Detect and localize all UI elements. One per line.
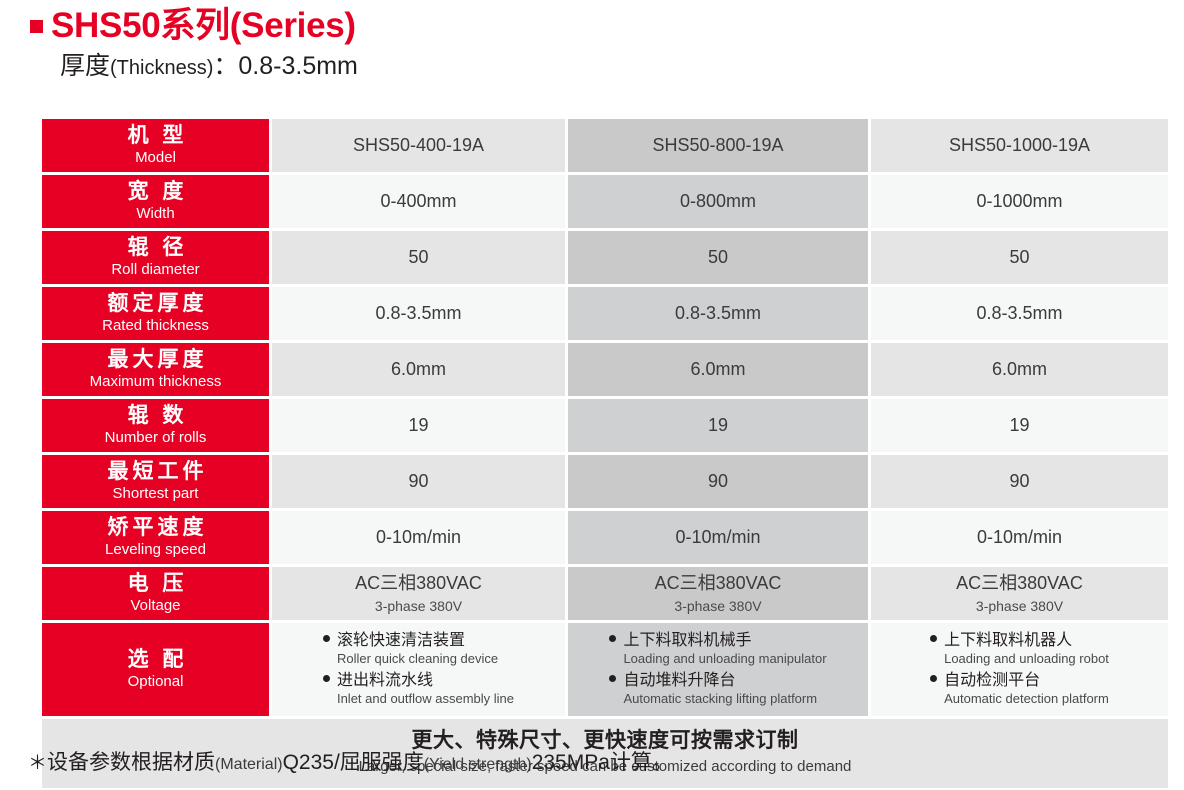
cell-value: AC三相380VAC: [355, 572, 482, 595]
cell-value: AC三相380VAC: [655, 572, 782, 595]
row-label-cn: 辊 径: [124, 236, 188, 261]
footnote-yield-value: 235MPa: [532, 751, 610, 774]
optional-item-en: Inlet and outflow assembly line: [323, 691, 514, 708]
row-label-en: Optional: [128, 673, 184, 691]
footnote-part7: 计算。: [610, 751, 673, 774]
subtitle-label-cn: 厚度: [60, 52, 110, 80]
bullet-icon: [609, 675, 616, 682]
cell-value: 19: [708, 414, 728, 437]
cell-model-col3: SHS50-1000-19A: [871, 119, 1168, 172]
cell-value: 0-10m/min: [376, 526, 461, 549]
page-title: SHS50系列(Series): [51, 8, 356, 45]
row-label-cn: 宽 度: [124, 180, 188, 205]
cell-maximum-thickness-col3: 6.0mm: [871, 343, 1168, 396]
row-label-en: Width: [136, 205, 174, 223]
row-label-cn: 电 压: [124, 572, 188, 597]
table-row: 矫平速度 Leveling speed 0-10m/min 0-10m/min …: [42, 511, 1168, 564]
cell-subvalue: 3-phase 380V: [976, 597, 1063, 615]
optional-item-en: Automatic detection platform: [930, 691, 1109, 708]
optional-item-en: Automatic stacking lifting platform: [609, 691, 826, 708]
row-label-maximum-thickness: 最大厚度 Maximum thickness: [42, 343, 269, 396]
row-label-cn: 最短工件: [104, 460, 208, 485]
cell-value: SHS50-1000-19A: [949, 134, 1090, 157]
cell-leveling-speed-col2: 0-10m/min: [568, 511, 868, 564]
cell-value: 0-800mm: [680, 190, 756, 213]
optional-item-en: Roller quick cleaning device: [323, 651, 514, 668]
optional-item: 自动堆料升降台 Automatic stacking lifting platf…: [609, 671, 826, 708]
optional-item-cn: 滚轮快速清洁装置: [323, 631, 514, 651]
footnote-part1: 设备参数根据材质: [47, 751, 215, 774]
cell-maximum-thickness-col1: 6.0mm: [272, 343, 565, 396]
table-row-optional: 选 配 Optional 滚轮快速清洁装置 Roller quick clean…: [42, 623, 1168, 716]
optional-item-cn-text: 上下料取料机械手: [623, 632, 751, 649]
row-label-number-of-rolls: 辊 数 Number of rolls: [42, 399, 269, 452]
optional-item-cn: 上下料取料机器人: [930, 631, 1109, 651]
subtitle-label-en: (Thickness): [110, 57, 213, 79]
cell-value: 0-10m/min: [675, 526, 760, 549]
row-label-en: Maximum thickness: [90, 373, 222, 391]
cell-value: SHS50-800-19A: [652, 134, 783, 157]
cell-rated-thickness-col3: 0.8-3.5mm: [871, 287, 1168, 340]
row-label-en: Shortest part: [113, 485, 199, 503]
row-label-en: Voltage: [130, 597, 180, 615]
row-label-en: Number of rolls: [105, 429, 207, 447]
cell-value: 90: [1009, 470, 1029, 493]
optional-item-cn-text: 进出料流水线: [337, 672, 433, 689]
table-row: 辊 径 Roll diameter 50 50 50: [42, 231, 1168, 284]
cell-value: 0.8-3.5mm: [976, 302, 1062, 325]
optional-item-cn: 自动堆料升降台: [609, 671, 826, 691]
cell-width-col3: 0-1000mm: [871, 175, 1168, 228]
row-label-cn: 机 型: [124, 124, 188, 149]
cell-value: 0-1000mm: [976, 190, 1062, 213]
page-subtitle: 厚度(Thickness)：0.8-3.5mm: [0, 45, 1184, 81]
optional-item-cn: 上下料取料机械手: [609, 631, 826, 651]
cell-value: 19: [408, 414, 428, 437]
optional-item-cn: 进出料流水线: [323, 671, 514, 691]
cell-value: 0.8-3.5mm: [675, 302, 761, 325]
cell-shortest-part-col3: 90: [871, 455, 1168, 508]
cell-value: 90: [408, 470, 428, 493]
row-label-en: Leveling speed: [105, 541, 206, 559]
table-row: 最短工件 Shortest part 90 90 90: [42, 455, 1168, 508]
cell-subvalue: 3-phase 380V: [375, 597, 462, 615]
cell-value: AC三相380VAC: [956, 572, 1083, 595]
optional-item-cn-text: 自动检测平台: [944, 672, 1040, 689]
cell-model-col1: SHS50-400-19A: [272, 119, 565, 172]
table-row: 最大厚度 Maximum thickness 6.0mm 6.0mm 6.0mm: [42, 343, 1168, 396]
bullet-icon: [323, 675, 330, 682]
cell-roll-diameter-col1: 50: [272, 231, 565, 284]
row-label-model: 机 型 Model: [42, 119, 269, 172]
footnote-material-en: (Material): [215, 756, 283, 773]
optional-item-cn: 自动检测平台: [930, 671, 1109, 691]
table-row: 电 压 Voltage AC三相380VAC 3-phase 380V AC三相…: [42, 567, 1168, 620]
cell-value: 0.8-3.5mm: [375, 302, 461, 325]
cell-value: SHS50-400-19A: [353, 134, 484, 157]
cell-value: 50: [408, 246, 428, 269]
cell-leveling-speed-col3: 0-10m/min: [871, 511, 1168, 564]
cell-value: 0-10m/min: [977, 526, 1062, 549]
table-row: 机 型 Model SHS50-400-19A SHS50-800-19A SH…: [42, 119, 1168, 172]
cell-roll-diameter-col2: 50: [568, 231, 868, 284]
cell-value: 50: [1009, 246, 1029, 269]
cell-value: 6.0mm: [992, 358, 1047, 381]
row-label-rated-thickness: 额定厚度 Rated thickness: [42, 287, 269, 340]
optional-item: 进出料流水线 Inlet and outflow assembly line: [323, 671, 514, 708]
subtitle-value: 0.8-3.5mm: [238, 52, 357, 80]
cell-number-of-rolls-col2: 19: [568, 399, 868, 452]
row-label-shortest-part: 最短工件 Shortest part: [42, 455, 269, 508]
optional-item: 滚轮快速清洁装置 Roller quick cleaning device: [323, 631, 514, 668]
cell-voltage-col3: AC三相380VAC 3-phase 380V: [871, 567, 1168, 620]
row-label-optional: 选 配 Optional: [42, 623, 269, 716]
optional-item: 自动检测平台 Automatic detection platform: [930, 671, 1109, 708]
footnote-yield-en: (Yield strength): [424, 756, 532, 773]
cell-width-col2: 0-800mm: [568, 175, 868, 228]
cell-optional-col2: 上下料取料机械手 Loading and unloading manipulat…: [568, 623, 868, 716]
cell-value: 90: [708, 470, 728, 493]
optional-item-en: Loading and unloading manipulator: [609, 651, 826, 668]
footnote-part4: 屈服强度: [340, 751, 424, 774]
page-title-row: SHS50系列(Series): [0, 0, 1184, 45]
row-label-en: Rated thickness: [102, 317, 209, 335]
optional-item: 上下料取料机器人 Loading and unloading robot: [930, 631, 1109, 668]
bullet-icon: [609, 635, 616, 642]
cell-value: 0-400mm: [380, 190, 456, 213]
cell-voltage-col2: AC三相380VAC 3-phase 380V: [568, 567, 868, 620]
specification-table: 机 型 Model SHS50-400-19A SHS50-800-19A SH…: [42, 119, 1168, 788]
cell-rated-thickness-col2: 0.8-3.5mm: [568, 287, 868, 340]
cell-rated-thickness-col1: 0.8-3.5mm: [272, 287, 565, 340]
cell-roll-diameter-col3: 50: [871, 231, 1168, 284]
cell-optional-col3: 上下料取料机器人 Loading and unloading robot 自动检…: [871, 623, 1168, 716]
bullet-icon: [323, 635, 330, 642]
cell-model-col2: SHS50-800-19A: [568, 119, 868, 172]
row-label-width: 宽 度 Width: [42, 175, 269, 228]
cell-shortest-part-col2: 90: [568, 455, 868, 508]
cell-value: 6.0mm: [690, 358, 745, 381]
cell-subvalue: 3-phase 380V: [674, 597, 761, 615]
square-bullet-icon: [30, 20, 43, 33]
row-label-leveling-speed: 矫平速度 Leveling speed: [42, 511, 269, 564]
row-label-roll-diameter: 辊 径 Roll diameter: [42, 231, 269, 284]
cell-optional-col1: 滚轮快速清洁装置 Roller quick cleaning device 进出…: [272, 623, 565, 716]
cell-leveling-speed-col1: 0-10m/min: [272, 511, 565, 564]
cell-value: 19: [1009, 414, 1029, 437]
cell-number-of-rolls-col1: 19: [272, 399, 565, 452]
footnote: ＊设备参数根据材质(Material)Q235/屈服强度(Yield stren…: [28, 750, 673, 776]
table-row: 辊 数 Number of rolls 19 19 19: [42, 399, 1168, 452]
subtitle-separator: ：: [213, 52, 238, 80]
table-row: 额定厚度 Rated thickness 0.8-3.5mm 0.8-3.5mm…: [42, 287, 1168, 340]
spec-sheet-page: SHS50系列(Series) 厚度(Thickness)：0.8-3.5mm …: [0, 0, 1184, 790]
cell-value: 6.0mm: [391, 358, 446, 381]
row-label-en: Roll diameter: [111, 261, 199, 279]
optional-item-en: Loading and unloading robot: [930, 651, 1109, 668]
row-label-voltage: 电 压 Voltage: [42, 567, 269, 620]
cell-value: 50: [708, 246, 728, 269]
cell-width-col1: 0-400mm: [272, 175, 565, 228]
footnote-star: ＊: [28, 753, 47, 774]
row-label-cn: 矫平速度: [104, 516, 208, 541]
optional-item-cn-text: 滚轮快速清洁装置: [337, 632, 465, 649]
footnote-material-grade: Q235/: [283, 751, 340, 774]
optional-item-cn-text: 自动堆料升降台: [623, 672, 735, 689]
bullet-icon: [930, 675, 937, 682]
cell-maximum-thickness-col2: 6.0mm: [568, 343, 868, 396]
optional-item-cn-text: 上下料取料机器人: [944, 632, 1072, 649]
row-label-cn: 最大厚度: [104, 348, 208, 373]
cell-shortest-part-col1: 90: [272, 455, 565, 508]
cell-number-of-rolls-col3: 19: [871, 399, 1168, 452]
table-row: 宽 度 Width 0-400mm 0-800mm 0-1000mm: [42, 175, 1168, 228]
row-label-cn: 辊 数: [124, 404, 188, 429]
cell-voltage-col1: AC三相380VAC 3-phase 380V: [272, 567, 565, 620]
bullet-icon: [930, 635, 937, 642]
row-label-en: Model: [135, 149, 176, 167]
row-label-cn: 额定厚度: [104, 292, 208, 317]
optional-item: 上下料取料机械手 Loading and unloading manipulat…: [609, 631, 826, 668]
row-label-cn: 选 配: [124, 648, 188, 673]
